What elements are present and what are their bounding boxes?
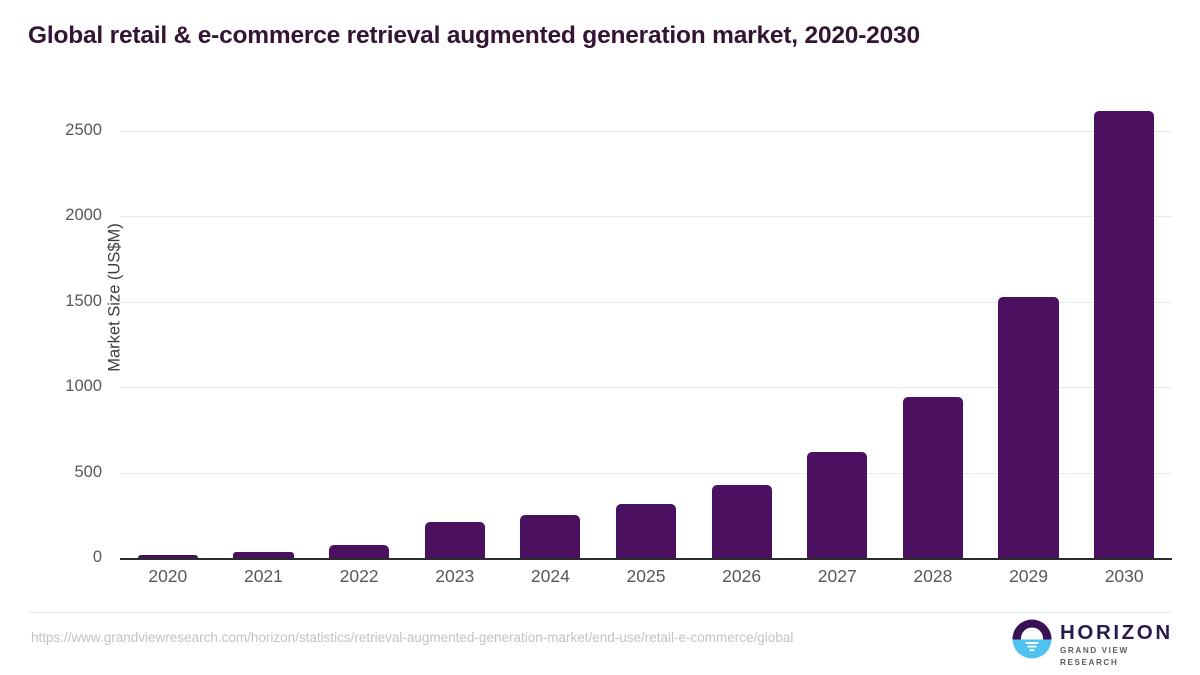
- x-tick-label-2024: 2024: [503, 566, 599, 587]
- horizon-logo[interactable]: HORIZON GRAND VIEW RESEARCH: [1010, 616, 1172, 662]
- y-tick-label: 0: [0, 548, 102, 567]
- y-tick-label: 2500: [0, 121, 102, 140]
- horizon-logo-icon: [1012, 619, 1052, 659]
- y-tick-label: 500: [0, 463, 102, 482]
- bar-2023[interactable]: [425, 522, 485, 558]
- page-title: Global retail & e-commerce retrieval aug…: [28, 22, 920, 50]
- bar-2024[interactable]: [520, 515, 580, 558]
- bar-2025[interactable]: [616, 504, 676, 558]
- horizon-logo-text: HORIZON GRAND VIEW RESEARCH: [1060, 622, 1173, 669]
- bar-2028[interactable]: [903, 397, 963, 558]
- x-tick-label-2025: 2025: [598, 566, 694, 587]
- y-tick-label: 1500: [0, 292, 102, 311]
- bar-2022[interactable]: [329, 545, 389, 558]
- source-url[interactable]: https://www.grandviewresearch.com/horizo…: [31, 630, 793, 645]
- x-tick-label-2020: 2020: [120, 566, 216, 587]
- bars-layer: [120, 100, 1172, 558]
- x-tick-label-2026: 2026: [694, 566, 790, 587]
- x-tick-label-2029: 2029: [981, 566, 1077, 587]
- chart-page: Global retail & e-commerce retrieval aug…: [0, 0, 1200, 675]
- x-tick-label-2028: 2028: [885, 566, 981, 587]
- x-tick-label-2023: 2023: [407, 566, 503, 587]
- footer-divider: [28, 612, 1172, 613]
- logo-wordmark: HORIZON: [1060, 622, 1173, 643]
- y-tick-label: 2000: [0, 206, 102, 225]
- bar-2030[interactable]: [1094, 111, 1154, 558]
- x-axis: 2020202120222023202420252026202720282029…: [120, 566, 1172, 600]
- y-tick-label: 1000: [0, 377, 102, 396]
- logo-tagline: GRAND VIEW RESEARCH: [1060, 645, 1173, 669]
- bar-2027[interactable]: [807, 452, 867, 558]
- x-tick-label-2022: 2022: [311, 566, 407, 587]
- bar-2026[interactable]: [712, 485, 772, 558]
- x-tick-label-2030: 2030: [1076, 566, 1172, 587]
- x-axis-line: [120, 558, 1172, 560]
- bar-2029[interactable]: [998, 297, 1058, 558]
- x-tick-label-2021: 2021: [216, 566, 312, 587]
- x-tick-label-2027: 2027: [789, 566, 885, 587]
